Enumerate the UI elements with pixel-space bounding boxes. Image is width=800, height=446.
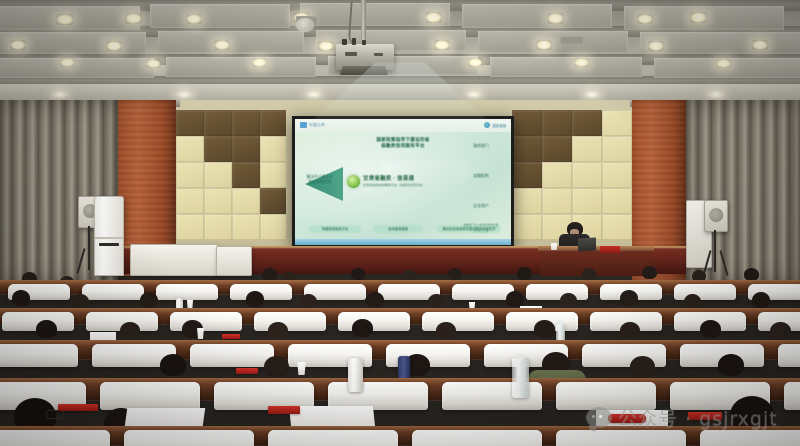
paper-cup — [551, 243, 557, 250]
ceiling-downlight — [252, 58, 267, 67]
attendee-head — [684, 294, 701, 309]
watermark-text: 公众号 · gsjrxgjt — [618, 404, 778, 431]
attendee-head — [72, 294, 89, 309]
paper-cup — [296, 362, 307, 375]
ceiling-downlight — [690, 12, 707, 23]
ceiling-downlight — [56, 14, 74, 25]
attendee-head — [700, 320, 721, 338]
slide-title: 国家政策指导下建设的省 级融资信用服务平台 — [355, 137, 451, 149]
slide-title-line2: 级融资信用服务平台 — [355, 143, 451, 149]
ceiling-downlight — [468, 58, 483, 67]
white-papers — [90, 332, 116, 340]
slide-center-text: 甘肃省融资 · 信易通 甘肃省融资信用服务平台（信易贷甘肃平台） — [363, 176, 425, 186]
chair-cover — [452, 284, 514, 300]
attendee-head — [620, 322, 640, 339]
chair-cover — [338, 312, 410, 331]
slide-bottom-label-2: 推动社会信用体系建设服务实体经济 — [437, 225, 501, 233]
red-folder — [268, 406, 300, 414]
chair-cover — [556, 430, 686, 446]
attendee-head — [560, 293, 577, 308]
ceiling-downlight — [637, 14, 653, 24]
ceiling-downlight — [60, 58, 75, 67]
attendee-head — [506, 291, 524, 307]
chair-cover — [100, 382, 200, 410]
chair-cover — [526, 284, 588, 300]
slide-surface: 中国之声 国家金融 国家政策指导下建设的省 级融资信用服务平台 解决中小微企业 … — [295, 119, 511, 245]
attendee-head — [718, 354, 744, 376]
chair-cover — [254, 312, 326, 331]
projector-mount-pole — [361, 0, 366, 44]
chair-cover — [268, 430, 398, 446]
attendee-head — [752, 292, 770, 308]
ac-vent-icon — [99, 243, 119, 246]
attendee-head — [642, 266, 657, 279]
thermos-flask — [348, 358, 363, 392]
slide-right-label-0: 政府部门 — [459, 143, 503, 148]
chair-cover — [124, 430, 254, 446]
slide-right-label-2: 企业用户 — [459, 203, 503, 208]
attendee-head — [448, 268, 462, 280]
attendee-head — [366, 292, 384, 308]
ceiling-downlight — [10, 40, 26, 50]
slide-bottom-label-1: 支持普惠金融 — [373, 225, 423, 233]
chair-cover — [0, 344, 78, 367]
logo-right-text: 国家金融 — [492, 123, 506, 128]
red-folder — [236, 368, 258, 374]
ceiling-vent — [560, 36, 584, 45]
attendee-head — [264, 356, 289, 377]
ceiling-downlight — [648, 41, 664, 51]
speaker-cone-icon — [709, 208, 723, 222]
attendee-head — [351, 268, 365, 280]
chair-cover — [778, 344, 800, 367]
attendee-head — [160, 354, 186, 376]
slide-center-block: 甘肃省融资 · 信易通 甘肃省融资信用服务平台（信易贷甘肃平台） — [347, 175, 425, 188]
ceiling-downlight — [716, 59, 731, 68]
slide-bottom-label-0: 构建信用信息平台 — [309, 225, 361, 233]
slide-footer-bar — [295, 239, 511, 245]
chair-cover — [190, 344, 274, 367]
attendee-head — [517, 267, 532, 280]
red-folder — [58, 404, 98, 411]
attendee-glasses-icon — [46, 410, 64, 419]
attendee-head — [428, 294, 445, 309]
slide-left-label-line2: 融资难融资贵 — [299, 180, 341, 185]
conference-hall-photo: 中国之声 国家金融 国家政策指导下建设的省 级融资信用服务平台 解决中小微企业 … — [0, 0, 800, 446]
chair-cover — [156, 284, 218, 300]
chair-cover — [422, 312, 494, 331]
ceiling-speaker — [296, 18, 314, 32]
attendee-head — [246, 291, 264, 307]
chair-cover — [82, 284, 144, 300]
ceiling-downlight — [425, 12, 442, 23]
attendee-head — [268, 322, 288, 339]
ceiling-downlight — [214, 40, 230, 50]
ceiling-downlight — [547, 13, 564, 24]
chair-cover — [0, 430, 110, 446]
acoustic-panel-wall-left — [176, 110, 286, 260]
ceiling-downlight — [574, 58, 589, 67]
attendee-head — [770, 322, 791, 340]
attendee-head — [300, 294, 317, 309]
chair-cover — [700, 430, 800, 446]
slide-center-subtitle: 甘肃省融资信用服务平台（信易贷甘肃平台） — [363, 183, 425, 187]
attendee-head — [36, 320, 57, 338]
laptop-computer — [578, 237, 596, 251]
attendee-head — [630, 356, 655, 377]
ceiling-downlight — [106, 41, 122, 51]
red-name-placard — [600, 246, 620, 253]
attendee-head — [582, 268, 596, 280]
ceiling-downlight — [146, 59, 161, 68]
wechat-icon — [586, 407, 612, 428]
loudspeaker-right — [704, 200, 728, 232]
wechat-watermark: 公众号 · gsjrxgjt — [586, 404, 778, 431]
slide-left-label: 解决中小微企业 融资难融资贵 — [299, 175, 341, 186]
attendee-head — [620, 290, 638, 306]
ceiling-downlight — [536, 40, 552, 50]
ceiling-downlight — [125, 13, 142, 24]
attendee-head — [352, 319, 373, 337]
attendee-head — [436, 322, 456, 339]
ceiling-downlight — [186, 14, 202, 24]
white-papers — [289, 406, 375, 426]
chair-cover — [170, 312, 242, 331]
water-bottle — [512, 358, 529, 398]
slide-right-label-1: 金融机构 — [459, 173, 503, 178]
ceiling-downlight — [434, 40, 450, 50]
red-folder — [222, 334, 240, 339]
attendee-head — [120, 322, 140, 339]
white-papers — [125, 408, 206, 426]
attendee-head — [534, 320, 555, 338]
green-circle-icon — [347, 175, 360, 188]
projection-screen: 中国之声 国家金融 国家政策指导下建设的省 级融资信用服务平台 解决中小微企业 … — [292, 116, 514, 248]
ceiling-downlight — [318, 41, 334, 51]
chair-cover — [784, 382, 800, 410]
ceiling-downlight — [752, 40, 768, 50]
chair-cover — [674, 284, 736, 300]
attendee-head — [140, 292, 158, 308]
attendee-head — [12, 290, 30, 306]
chair-cover — [412, 430, 542, 446]
